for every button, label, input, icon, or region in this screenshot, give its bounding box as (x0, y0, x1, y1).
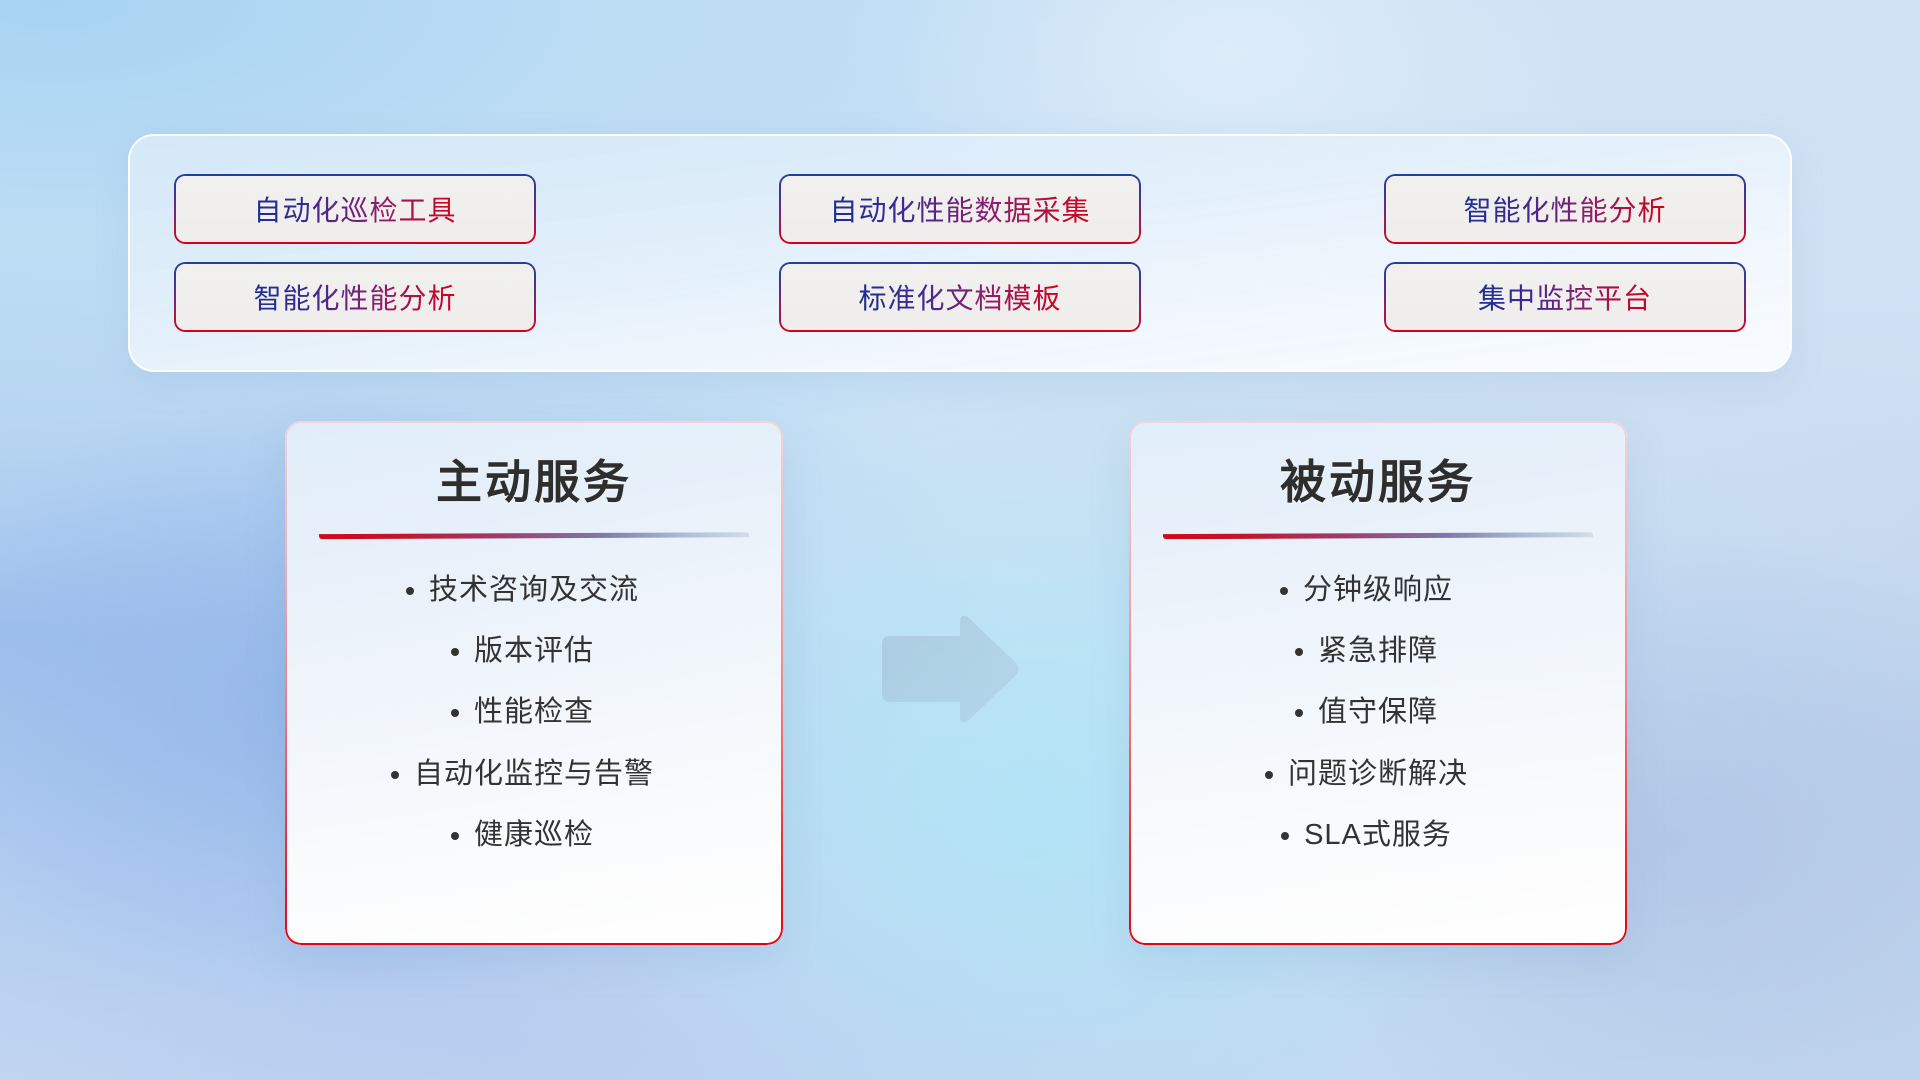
capability-panel: 自动化巡检工具 自动化性能数据采集 智能化性能分析 智能化性能分析 标准化文档模… (128, 134, 1792, 372)
service-card-proactive: 主动服务 技术咨询及交流 版本评估 性能检查 自动化监控与告警 健康巡检 (285, 421, 783, 945)
capability-pill-label: 智能化性能分析 (1463, 189, 1666, 229)
service-card-title: 主动服务 (436, 455, 632, 510)
service-card-inner: 主动服务 技术咨询及交流 版本评估 性能检查 自动化监控与告警 健康巡检 (285, 421, 783, 945)
service-item-list: 分钟级响应 紧急排障 值守保障 问题诊断解决 SLA式服务 (1165, 571, 1591, 855)
capability-pill-label: 智能化性能分析 (253, 277, 456, 317)
title-divider (1163, 532, 1593, 539)
service-card-reactive: 被动服务 分钟级响应 紧急排障 值守保障 问题诊断解决 SLA式服务 (1129, 421, 1627, 945)
list-item: 紧急排障 (1318, 632, 1438, 671)
service-card-inner: 被动服务 分钟级响应 紧急排障 值守保障 问题诊断解决 SLA式服务 (1129, 421, 1627, 945)
list-item: 值守保障 (1318, 693, 1438, 732)
capability-pill-automated-performance-data-collection[interactable]: 自动化性能数据采集 (781, 176, 1139, 242)
list-item: 版本评估 (474, 632, 594, 671)
list-item: 自动化监控与告警 (414, 755, 654, 794)
arrow-right-icon (874, 612, 1022, 726)
capability-pill-label: 标准化文档模板 (858, 277, 1061, 317)
capability-pill-intelligent-performance-analysis[interactable]: 智能化性能分析 (1386, 176, 1744, 242)
list-item: 问题诊断解决 (1288, 755, 1468, 794)
slide-stage: 自动化巡检工具 自动化性能数据采集 智能化性能分析 智能化性能分析 标准化文档模… (0, 0, 1920, 1080)
capability-pill-label: 自动化性能数据采集 (829, 189, 1090, 229)
list-item: 技术咨询及交流 (429, 571, 639, 610)
service-item-list: 技术咨询及交流 版本评估 性能检查 自动化监控与告警 健康巡检 (321, 571, 747, 855)
list-item: 性能检查 (474, 693, 594, 732)
capability-row-1: 自动化巡检工具 自动化性能数据采集 智能化性能分析 (176, 176, 1744, 242)
capability-pill-label: 自动化巡检工具 (253, 189, 456, 229)
capability-pill-automated-inspection-tool[interactable]: 自动化巡检工具 (176, 176, 534, 242)
capability-pill-intelligent-performance-analysis-2[interactable]: 智能化性能分析 (176, 264, 534, 330)
capability-pill-label: 集中监控平台 (1478, 277, 1652, 317)
capability-row-2: 智能化性能分析 标准化文档模板 集中监控平台 (176, 264, 1744, 330)
list-item: SLA式服务 (1304, 816, 1452, 855)
list-item: 健康巡检 (474, 816, 594, 855)
service-card-title: 被动服务 (1280, 455, 1476, 510)
capability-pill-standardized-document-template[interactable]: 标准化文档模板 (781, 264, 1139, 330)
list-item: 分钟级响应 (1303, 571, 1453, 610)
capability-pill-centralized-monitoring-platform[interactable]: 集中监控平台 (1386, 264, 1744, 330)
title-divider (319, 532, 749, 539)
